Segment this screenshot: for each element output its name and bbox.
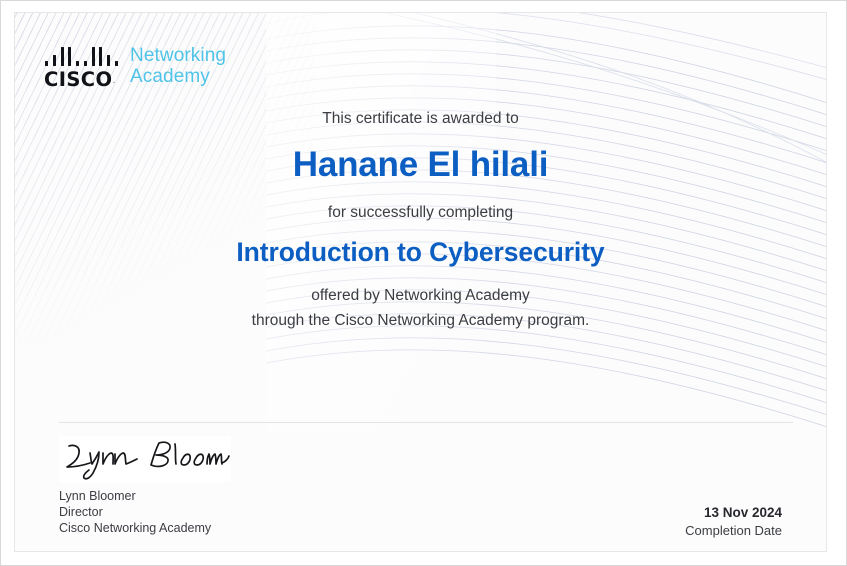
footer-divider (59, 422, 793, 423)
cisco-bridge-icon (44, 47, 118, 66)
signer-title: Director (59, 504, 231, 520)
offered-by-line: offered by Networking Academy (15, 285, 826, 306)
certificate-panel: CISCO. Networking Academy This certifica… (14, 12, 827, 552)
completion-date-label: Completion Date (685, 522, 782, 540)
certificate-body: This certificate is awarded to Hanane El… (15, 108, 826, 331)
cisco-trademark: . (113, 76, 116, 86)
cisco-wordmark: CISCO. (44, 70, 120, 90)
awarded-to-label: This certificate is awarded to (15, 108, 826, 129)
cisco-networking-academy-logo: CISCO. Networking Academy (44, 45, 226, 90)
completing-label: for successfully completing (15, 202, 826, 223)
signature-image (59, 436, 231, 482)
signer-org: Cisco Networking Academy (59, 520, 231, 536)
certificate-document: CISCO. Networking Academy This certifica… (0, 0, 847, 566)
cisco-brand-text: CISCO (44, 68, 113, 91)
signature-block: Lynn Bloomer Director Cisco Networking A… (59, 436, 231, 536)
completion-date-value: 13 Nov 2024 (685, 504, 782, 522)
logo-program-line-2: Academy (130, 66, 226, 87)
networking-academy-wordmark: Networking Academy (130, 45, 226, 87)
recipient-name: Hanane El hilali (15, 145, 826, 185)
signer-details: Lynn Bloomer Director Cisco Networking A… (59, 488, 231, 536)
completion-date-block: 13 Nov 2024 Completion Date (685, 504, 782, 540)
signer-name: Lynn Bloomer (59, 488, 231, 504)
cisco-logo-mark: CISCO. (44, 45, 120, 90)
logo-program-line-1: Networking (130, 45, 226, 66)
course-title: Introduction to Cybersecurity (15, 236, 826, 268)
through-program-line: through the Cisco Networking Academy pro… (15, 310, 826, 331)
